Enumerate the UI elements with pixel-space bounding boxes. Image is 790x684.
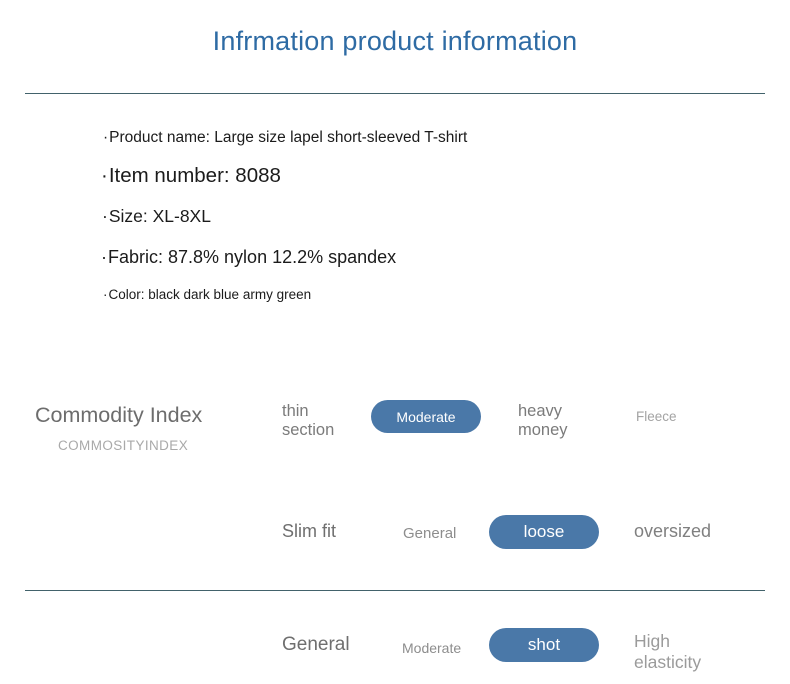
spec-color: ·Color: black dark blue army green bbox=[103, 287, 703, 304]
spec-fabric-text: Fabric: 87.8% nylon 12.2% spandex bbox=[108, 247, 396, 267]
index-option-heavy-money[interactable]: heavy money bbox=[518, 402, 568, 441]
bullet-icon: · bbox=[103, 129, 108, 146]
commodity-index-heading: Commodity Index COMMOSITYINDEX bbox=[35, 403, 265, 453]
bullet-icon: · bbox=[101, 164, 108, 187]
index-option-moderate[interactable]: Moderate bbox=[402, 640, 461, 657]
spec-size-text: Size: XL-8XL bbox=[109, 206, 211, 226]
bullet-icon: · bbox=[101, 247, 107, 267]
divider-top bbox=[25, 93, 765, 94]
index-option-general[interactable]: General bbox=[403, 525, 456, 543]
commodity-index-title: Commodity Index bbox=[35, 403, 265, 428]
index-row-elasticity: General Moderate shot High elasticity bbox=[278, 628, 778, 684]
index-option-oversized[interactable]: oversized bbox=[634, 521, 711, 542]
divider-bottom bbox=[25, 590, 765, 591]
commodity-index-rows: thin section Moderate heavy money Fleece… bbox=[278, 396, 778, 564]
index-option-shot-selected[interactable]: shot bbox=[489, 628, 599, 662]
spec-product-name: ·Product name: Large size lapel short-sl… bbox=[103, 128, 703, 147]
index-option-thin-section[interactable]: thin section bbox=[282, 402, 334, 441]
index-option-loose-selected[interactable]: loose bbox=[489, 515, 599, 549]
index-row-thickness: thin section Moderate heavy money Fleece bbox=[278, 396, 778, 452]
spec-fabric: ·Fabric: 87.8% nylon 12.2% spandex bbox=[101, 246, 703, 269]
spec-color-text: Color: black dark blue army green bbox=[109, 287, 312, 302]
spec-item-number-text: Item number: 8088 bbox=[109, 164, 281, 187]
index-option-general[interactable]: General bbox=[282, 634, 350, 656]
product-information-page: Infrmation product information ·Product … bbox=[0, 0, 790, 610]
bullet-icon: · bbox=[102, 206, 108, 226]
spec-product-name-text: Product name: Large size lapel short-sle… bbox=[109, 129, 467, 146]
commodity-index-subtitle: COMMOSITYINDEX bbox=[58, 438, 265, 453]
bullet-icon: · bbox=[103, 287, 108, 302]
index-option-moderate-selected[interactable]: Moderate bbox=[371, 400, 481, 433]
spec-item-number: ·Item number: 8088 bbox=[101, 163, 703, 189]
product-specs-list: ·Product name: Large size lapel short-sl… bbox=[103, 128, 703, 304]
spec-size: ·Size: XL-8XL bbox=[102, 206, 703, 228]
page-title: Infrmation product information bbox=[0, 26, 790, 57]
index-option-fleece[interactable]: Fleece bbox=[636, 409, 677, 425]
index-option-high-elasticity[interactable]: High elasticity bbox=[634, 631, 701, 672]
index-row-fit: Slim fit General loose oversized bbox=[278, 514, 778, 570]
index-option-slim-fit[interactable]: Slim fit bbox=[282, 521, 336, 542]
